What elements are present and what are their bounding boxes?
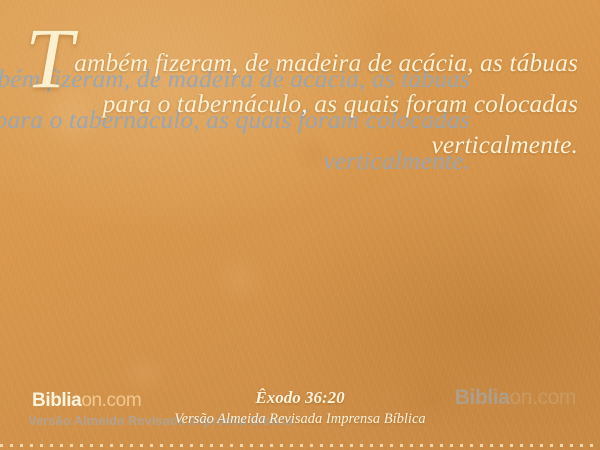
verse-image-card: Também fizeram, de madeira de acácia, as… bbox=[0, 0, 600, 450]
verse-main-layer: Também fizeram, de madeira de acácia, as… bbox=[22, 42, 578, 165]
verse-reference: Êxodo 36:20 bbox=[0, 388, 600, 408]
verse-dropcap: T bbox=[25, 10, 74, 106]
bible-version-label: Versão Almeida Revisada Imprensa Bíblica bbox=[0, 411, 600, 428]
verse-body: ambém fizeram, de madeira de acácia, as … bbox=[74, 48, 578, 159]
footer: Bibliaon.com Versão Almeida Revisada Imp… bbox=[0, 372, 600, 450]
verse-text-stack: Também fizeram, de madeira de acácia, as… bbox=[22, 42, 578, 332]
bottom-dotted-rule bbox=[0, 444, 600, 447]
